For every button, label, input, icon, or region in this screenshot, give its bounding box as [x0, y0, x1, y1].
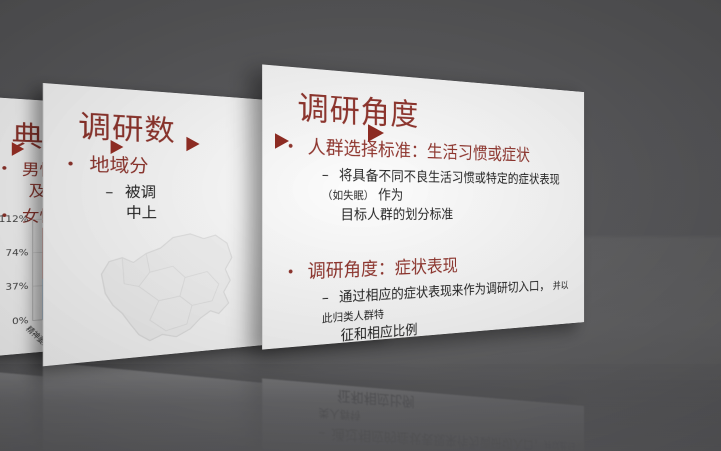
- bullet-dot-icon: •: [66, 156, 75, 172]
- bullet-level1: • 人群选择标准：生活习惯或症状: [287, 134, 576, 168]
- bullet-level2: – 通过相应的症状表现来作为调研切入口， 并以此归类人群特 征和相应比例: [322, 276, 576, 348]
- slide-title: 调研数: [78, 102, 175, 150]
- bullet-dot-icon: •: [287, 263, 295, 280]
- bullet-text: 人群选择标准：生活习惯或症状: [308, 136, 530, 164]
- slide-thumbnail-5-active[interactable]: 调研角度 • 人群选择标准：生活习惯或症状 – 将具备不同不良生活习惯或特定的症…: [262, 64, 584, 349]
- dash-icon: –: [322, 289, 329, 306]
- bullet-tail: 作为: [378, 187, 403, 203]
- bullet-text: 调研角度：症状表现: [308, 255, 458, 281]
- y-axis: 112% 74% 37% 0%: [0, 219, 29, 323]
- china-map-icon: [84, 219, 243, 354]
- bullet-dot-icon: •: [0, 161, 8, 176]
- slide-arrow-marker-icon: [186, 137, 199, 152]
- presentation-stage: 消费 •消费人群 消费者 •对于疗效便捷性、 典型症状 调研数 调研角度: [0, 0, 721, 451]
- slide-arrow-marker-icon: [12, 142, 24, 156]
- slide-arrow-marker-icon: [111, 140, 124, 154]
- bullet-note: （如失眠）: [322, 189, 374, 202]
- slide-body: • 人群选择标准：生活习惯或症状 – 将具备不同不良生活习惯或特定的症状表现 （…: [287, 134, 576, 350]
- slide-title: 调研角度: [297, 82, 419, 135]
- bullet-level2: – 将具备不同不良生活习惯或特定的症状表现 （如失眠） 作为 目标人群的划分标准: [322, 166, 576, 225]
- bullet-text: 地域分: [89, 154, 148, 177]
- bullet-text: 通过相应的症状表现来作为调研切入口，: [339, 278, 550, 305]
- bullet-text: 将具备不同不良生活习惯或特定的症状表现: [339, 167, 560, 187]
- slide-deck: 消费 • 消费 人群 在此之前， 医角度） 同的性质 虚、气虚、: [0, 0, 721, 451]
- slide-arrow-marker-icon: [275, 133, 289, 148]
- bullet-text-cont: 目标人群的划分标准: [341, 205, 576, 224]
- dash-icon: –: [105, 184, 113, 202]
- slide-arrow-marker-icon: [368, 124, 384, 142]
- dash-icon: –: [322, 167, 329, 184]
- bullet-text: 被调: [125, 184, 156, 201]
